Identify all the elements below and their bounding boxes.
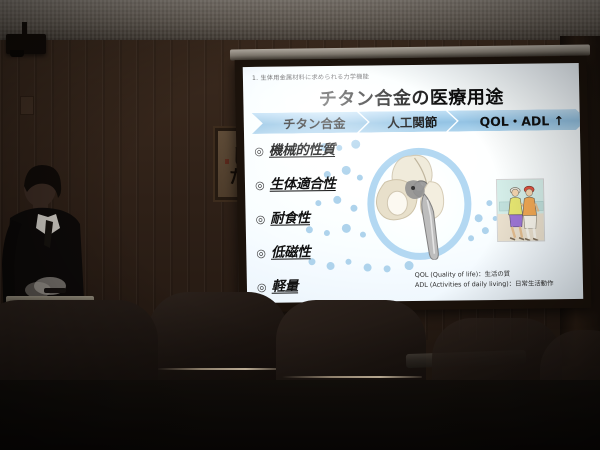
auditorium-seat[interactable] [148, 292, 288, 392]
bullet-label: 機械的性質 [269, 138, 335, 159]
projection-screen: 1. 生体用金属材料に求められる力学機能 チタン合金の医療用途 チタン合金 人工… [235, 56, 592, 312]
elderly-couple-walking-illustration [496, 178, 545, 242]
slide-footnotes: QOL (Quality of life)：生活の質 ADL (Activiti… [415, 269, 554, 291]
bullet-label: 生体適合性 [269, 172, 335, 193]
process-ribbon: チタン合金 人工関節 QOL・ADL ↑ [252, 109, 578, 134]
floor [0, 380, 600, 450]
list-item: ◎ 低磁性 [256, 239, 407, 275]
bullet-mark-icon: ◎ [254, 146, 264, 157]
list-item: ◎ 軽量 [257, 273, 408, 303]
wall-switch[interactable] [20, 96, 34, 115]
bullet-mark-icon: ◎ [256, 214, 266, 225]
ribbon-step-3: QOL・ADL ↑ [448, 109, 584, 132]
ribbon-step-1: チタン合金 [252, 112, 368, 134]
bullet-label: 低磁性 [271, 240, 311, 260]
ribbon-step-2: 人工関節 [359, 110, 457, 132]
bullet-list: ◎ 機械的性質 ◎ 生体適合性 ◎ 耐食性 ◎ 低磁性 ◎ 軽量 [254, 137, 407, 303]
footnote-adl: ADL (Activities of daily living)：日常生活動作 [415, 279, 554, 291]
slide-title: チタン合金の医療用途 [243, 82, 579, 112]
bullet-mark-icon: ◎ [255, 180, 265, 191]
list-item: ◎ 耐食性 [255, 205, 406, 241]
slide-section-header: 1. 生体用金属材料に求められる力学機能 [252, 72, 369, 82]
bullet-mark-icon: ◎ [257, 282, 267, 293]
lecture-room-photo: し た 1. 生体用金属材料に求められる力学機能 チタン合金の医療用途 チタン合… [0, 0, 600, 450]
bullet-label: 耐食性 [270, 206, 310, 226]
list-item: ◎ 生体適合性 [255, 171, 406, 207]
projector-lens [10, 50, 24, 57]
presentation-slide: 1. 生体用金属材料に求められる力学機能 チタン合金の医療用途 チタン合金 人工… [243, 63, 584, 303]
list-item: ◎ 機械的性質 [254, 137, 405, 173]
bullet-label: 軽量 [271, 274, 298, 294]
bullet-mark-icon: ◎ [256, 248, 266, 259]
